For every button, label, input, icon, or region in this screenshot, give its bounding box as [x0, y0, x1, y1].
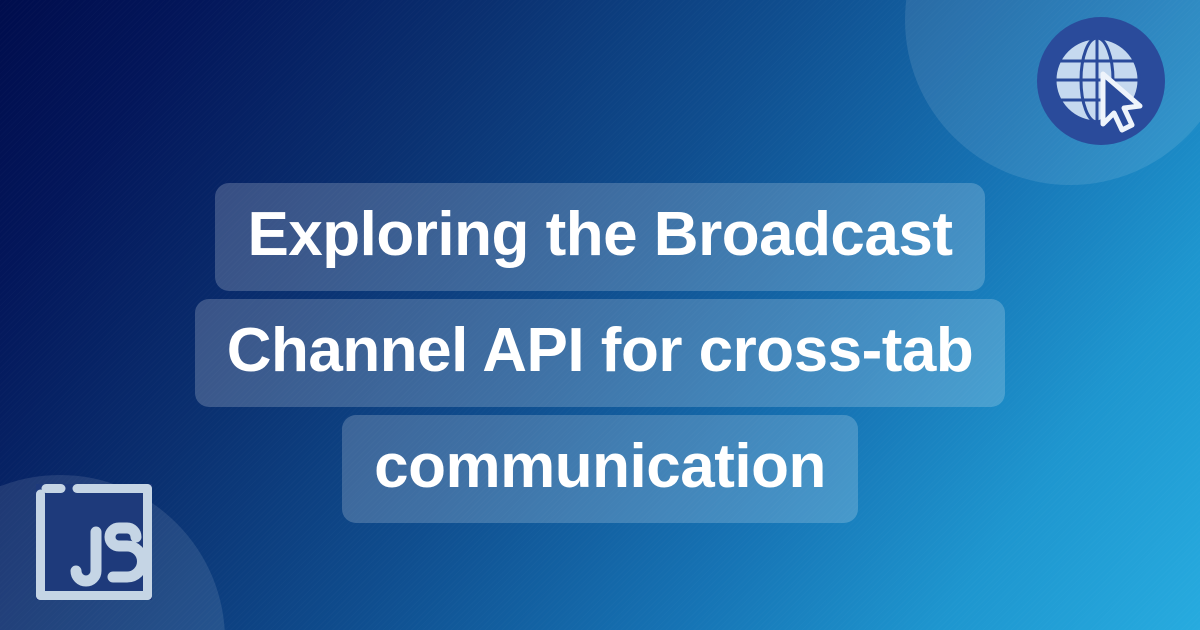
- globe-cursor-icon: [1037, 17, 1165, 145]
- title-line-2: Channel API for cross-tab: [195, 299, 1006, 407]
- og-card: Exploring the Broadcast Channel API for …: [0, 0, 1200, 630]
- card-title: Exploring the Broadcast Channel API for …: [0, 183, 1200, 523]
- title-line-1: Exploring the Broadcast: [215, 183, 984, 291]
- title-line-3: communication: [342, 415, 858, 523]
